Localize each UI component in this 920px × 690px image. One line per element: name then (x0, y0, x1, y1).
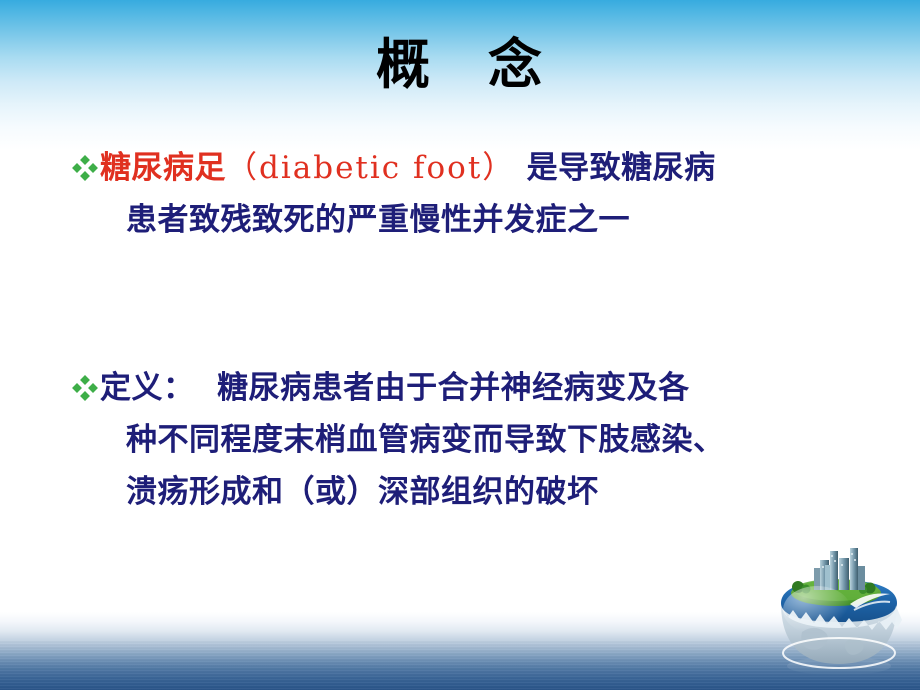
bullet-2-line-2: 种不同程度末梢血管病变而导致下肢感染、 (100, 414, 882, 466)
bullet-item-2: 定义： 糖尿病患者由于合并神经病变及各 种不同程度末梢血管病变而导致下肢感染、 … (62, 362, 882, 518)
bullet-1-line-1: 糖尿病足（diabetic foot） 是导致糖尿病 (100, 142, 882, 194)
diamond-cluster-bullet-icon (72, 375, 98, 401)
bullet-1-term-latin: （diabetic foot） (226, 150, 515, 186)
bullet-1-line-2: 患者致残致死的严重慢性并发症之一 (100, 194, 882, 246)
bullet-1-line-1-rest: 是导致糖尿病 (515, 150, 715, 186)
bullet-2-line-3: 溃疡形成和（或）深部组织的破坏 (100, 466, 882, 518)
slide-body: 糖尿病足（diabetic foot） 是导致糖尿病 患者致残致死的严重慢性并发… (62, 142, 882, 518)
presentation-slide: 概 念 糖尿病足（diabetic foot） 是导致糖尿病 患者致残致死的严重… (0, 0, 920, 690)
bullet-1-term-chinese: 糖尿病足 (100, 150, 226, 186)
bullet-item-1: 糖尿病足（diabetic foot） 是导致糖尿病 患者致残致死的严重慢性并发… (62, 142, 882, 246)
bullet-2-line-1: 定义： 糖尿病患者由于合并神经病变及各 (100, 362, 882, 414)
slide-title: 概 念 (0, 33, 920, 95)
eco-globe-graphic (762, 540, 914, 682)
diamond-cluster-bullet-icon (72, 155, 98, 181)
